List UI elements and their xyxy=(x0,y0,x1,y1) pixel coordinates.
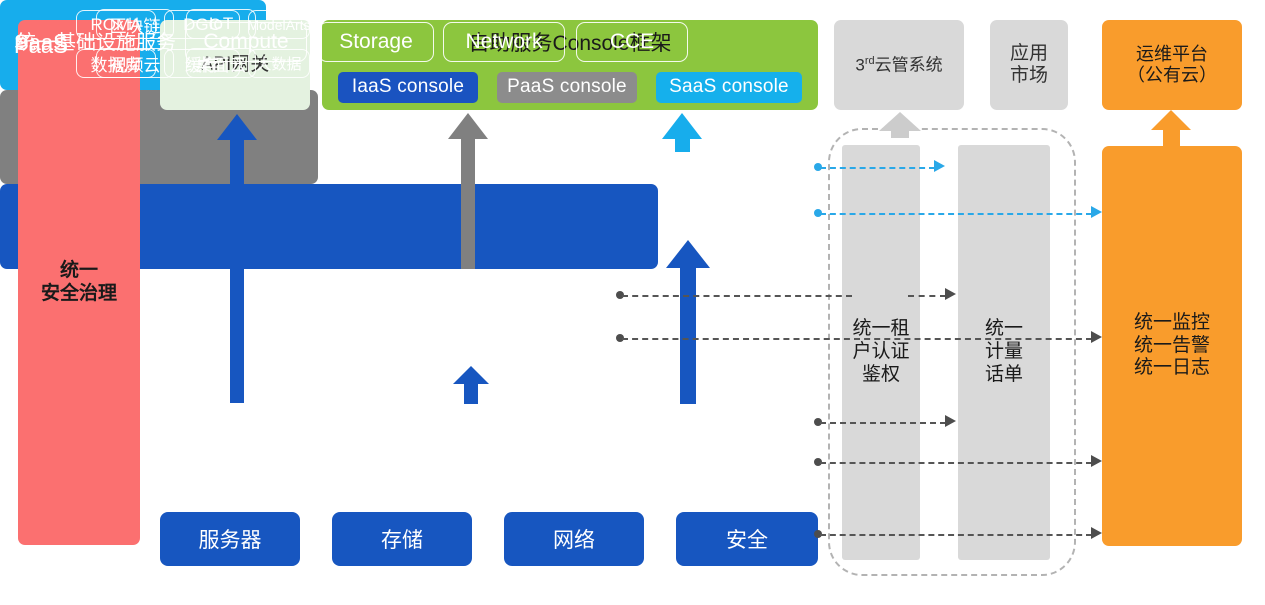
hardware-item-security[interactable]: 安全 xyxy=(676,512,818,566)
ops-platform-public-cloud-box: 运维平台 （公有云） xyxy=(1102,20,1242,110)
connector-arrowhead-hardware-to-ops xyxy=(1091,527,1102,539)
paas-console-button[interactable]: PaaS console xyxy=(497,72,637,103)
security-governance-line2: 安全治理 xyxy=(41,283,117,305)
metering-line3: 话单 xyxy=(985,364,1023,387)
tenant-auth-line3: 鉴权 xyxy=(852,364,909,387)
connector-line-auth-to-billing xyxy=(908,295,946,297)
app-market-line1: 应用 xyxy=(1010,43,1048,65)
architecture-diagram: 统一 安全治理 API网关 自助服务Console框架 IaaS console… xyxy=(0,0,1265,605)
connector-arrowhead-paas-to-ops xyxy=(1091,331,1102,343)
unified-ops-panel: 统一监控 统一告警 统一日志 xyxy=(1102,146,1242,546)
infra-item-network[interactable]: Network xyxy=(443,22,565,62)
unified-alarm-label: 统一告警 xyxy=(1134,335,1210,357)
saas-console-button[interactable]: SaaS console xyxy=(656,72,802,103)
arrow-ops-panel-to-public-cloud xyxy=(1151,110,1191,146)
connector-arrowhead-saas-to-ops xyxy=(1091,206,1102,218)
connector-line-infra-to-billing xyxy=(820,422,946,424)
third-party-cloud-mgmt-box: 3rd云管系统 xyxy=(834,20,964,110)
iaas-console-button[interactable]: IaaS console xyxy=(338,72,478,103)
arrow-infra-to-paas xyxy=(453,366,489,404)
tenant-auth-line2: 户认证 xyxy=(852,341,909,364)
connector-arrowhead-infra-to-billing xyxy=(945,415,956,427)
ops-platform-line2: （公有云） xyxy=(1127,65,1217,86)
hardware-item-server[interactable]: 服务器 xyxy=(160,512,300,566)
unified-metering-billing-column: 统一 计量 话单 xyxy=(958,145,1050,560)
connector-arrowhead-saas-to-auth xyxy=(934,160,945,172)
infra-item-cce[interactable]: CCE xyxy=(576,22,688,62)
third-party-cloud-mgmt-label: 3rd云管系统 xyxy=(855,55,942,76)
arrow-saas-to-console xyxy=(662,113,702,152)
security-governance-line1: 统一 xyxy=(41,260,117,282)
connector-line-hardware-to-ops xyxy=(820,534,1092,536)
hardware-item-storage[interactable]: 存储 xyxy=(332,512,472,566)
connector-line-infra-to-ops xyxy=(820,462,1092,464)
connector-line-paas-to-auth xyxy=(622,295,852,297)
connector-line-saas-to-ops xyxy=(820,213,1092,215)
security-governance-panel: 统一 安全治理 xyxy=(18,20,140,545)
connector-arrowhead-auth-to-billing xyxy=(945,288,956,300)
connector-arrowhead-infra-to-ops xyxy=(1091,455,1102,467)
connector-line-saas-to-auth xyxy=(820,167,935,169)
infra-item-storage[interactable]: Storage xyxy=(318,22,434,62)
app-market-line2: 市场 xyxy=(1010,65,1048,87)
app-market-box: 应用 市场 xyxy=(990,20,1068,110)
connector-line-paas-to-ops xyxy=(622,338,1092,340)
ops-platform-line1: 运维平台 xyxy=(1127,44,1217,65)
hardware-item-network[interactable]: 网络 xyxy=(504,512,644,566)
metering-line2: 计量 xyxy=(985,341,1023,364)
unified-log-label: 统一日志 xyxy=(1134,357,1210,379)
unified-infrastructure-label: 统一基础设施服务 xyxy=(16,26,176,55)
unified-tenant-auth-column: 统一租 户认证 鉴权 xyxy=(842,145,920,560)
arrow-infra-to-saas xyxy=(666,240,710,404)
unified-monitoring-label: 统一监控 xyxy=(1134,312,1210,334)
infra-item-compute[interactable]: Compute xyxy=(185,22,307,62)
